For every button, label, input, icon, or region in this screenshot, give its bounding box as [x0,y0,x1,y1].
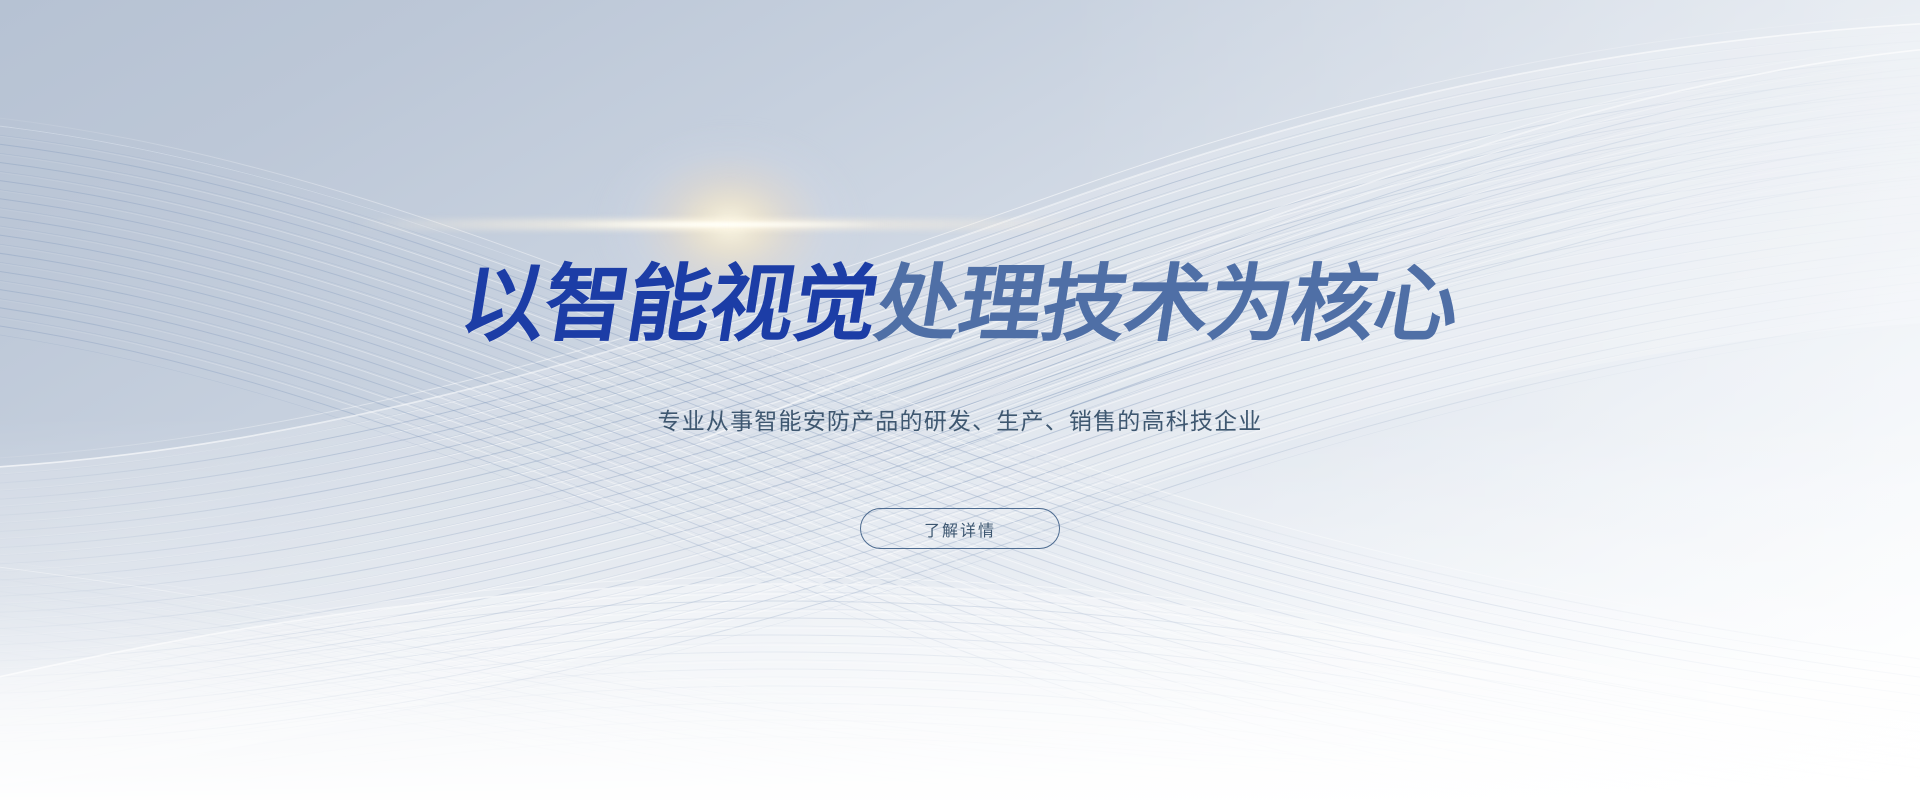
background-right-wash [0,0,1920,800]
lens-flare-streak [350,219,1140,230]
headline-accent-text: 以智能视觉 [454,255,885,353]
page-title: 以智能视觉处理技术为核心 [0,258,1920,350]
lens-flare-streak-core [560,222,890,227]
background-light-wash [0,0,1920,800]
background-wave-pattern [0,0,1920,800]
headline-muted-text: 处理技术为核心 [869,255,1466,353]
hero-banner: 以智能视觉处理技术为核心 专业从事智能安防产品的研发、生产、销售的高科技企业 了… [0,0,1920,800]
hero-content: 以智能视觉处理技术为核心 专业从事智能安防产品的研发、生产、销售的高科技企业 了… [0,0,1920,800]
learn-more-button[interactable]: 了解详情 [860,508,1060,549]
hero-subtitle: 专业从事智能安防产品的研发、生产、销售的高科技企业 [0,404,1920,438]
cta-container: 了解详情 [0,508,1920,549]
